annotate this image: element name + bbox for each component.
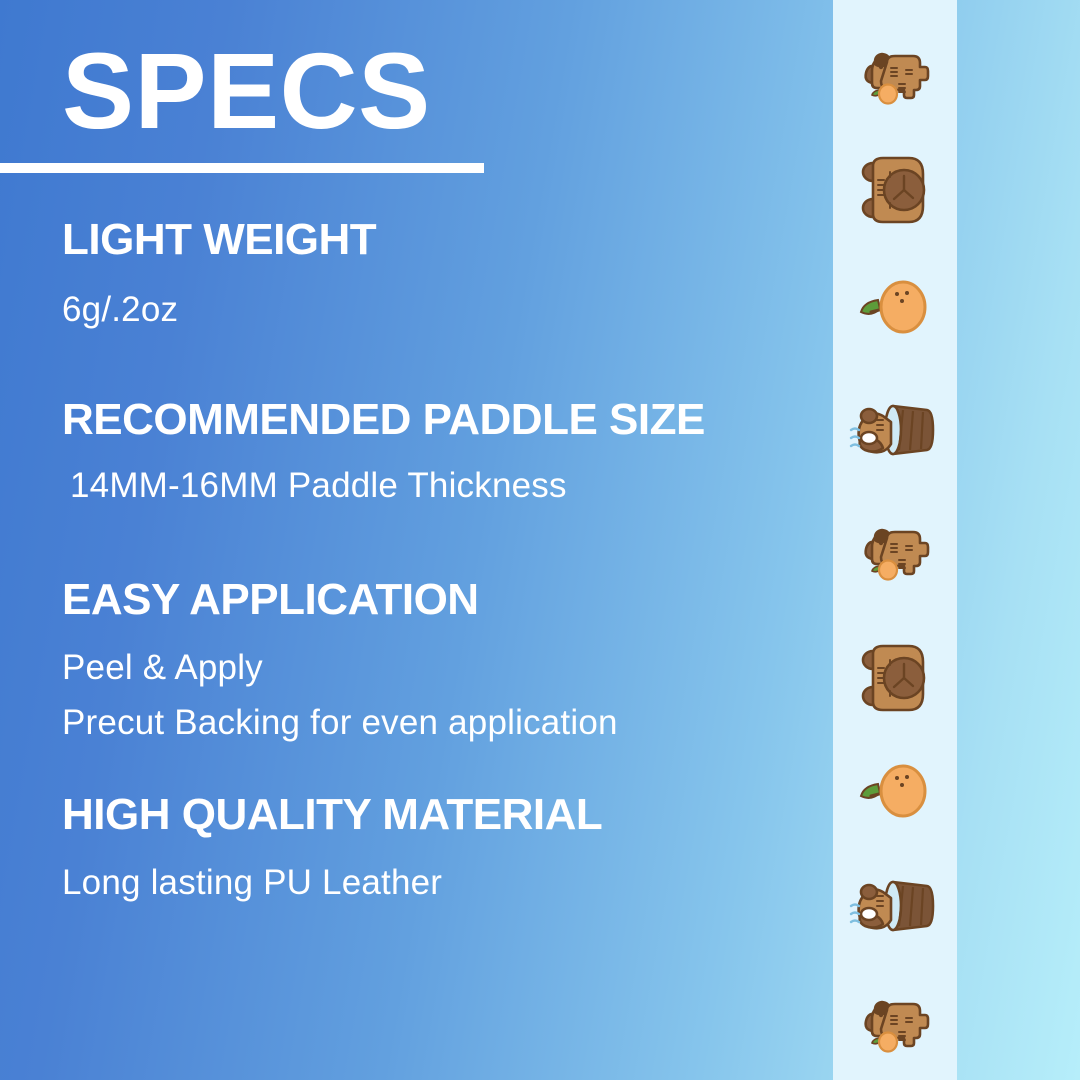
orange-fruit-icon	[847, 740, 943, 836]
orange-fruit-icon	[847, 256, 943, 352]
title-divider	[0, 163, 484, 173]
capybara-in-barrel-icon	[847, 382, 943, 478]
decorative-icon-strip	[833, 0, 957, 1080]
capybara-with-orange-icon	[847, 508, 943, 604]
capybara-curled-icon	[847, 630, 943, 726]
capybara-with-orange-icon	[847, 980, 943, 1076]
spec-detail: Precut Backing for even application	[62, 700, 618, 745]
spec-heading: HIGH QUALITY MATERIAL	[62, 790, 602, 840]
spec-detail: Long lasting PU Leather	[62, 860, 442, 905]
spec-detail: 6g/.2oz	[62, 287, 178, 332]
capybara-in-barrel-icon	[847, 858, 943, 954]
spec-heading: RECOMMENDED PADDLE SIZE	[62, 395, 705, 445]
specs-poster: SPECS LIGHT WEIGHT 6g/.2oz RECOMMENDED P…	[0, 0, 1080, 1080]
spec-heading: LIGHT WEIGHT	[62, 215, 376, 265]
capybara-with-orange-icon	[847, 32, 943, 128]
spec-heading: EASY APPLICATION	[62, 575, 479, 625]
page-title: SPECS	[62, 32, 431, 150]
content-column: SPECS LIGHT WEIGHT 6g/.2oz RECOMMENDED P…	[0, 0, 835, 1080]
spec-detail: Peel & Apply	[62, 645, 263, 690]
spec-detail: 14MM-16MM Paddle Thickness	[70, 463, 567, 508]
capybara-curled-icon	[847, 142, 943, 238]
